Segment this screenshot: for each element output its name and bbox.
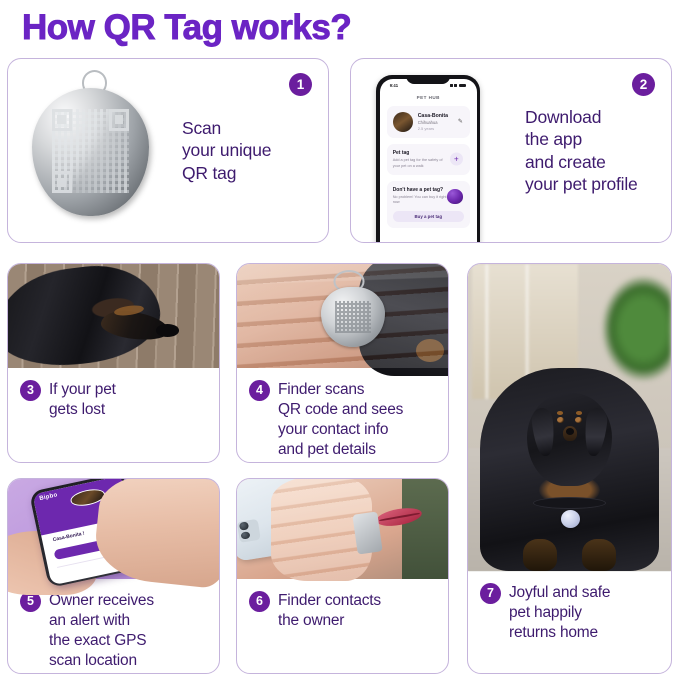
blue-pet-tag-icon: [561, 510, 581, 528]
step-2-badge: 2: [632, 73, 655, 96]
finder-scanning-photo: [237, 264, 448, 368]
status-icons: [450, 84, 466, 87]
status-time: 9:41: [390, 83, 398, 88]
buy-tag-card[interactable]: Don't have a pet tag? No problem! You ca…: [387, 181, 470, 229]
step-card-7[interactable]: 7 Joyful and safe pet happily returns ho…: [467, 263, 672, 674]
step-6-badge: 6: [249, 591, 270, 612]
no-tag-description: No problem! You can buy it right now: [393, 195, 449, 205]
step-card-4[interactable]: 4 Finder scans QR code and sees your con…: [236, 263, 449, 463]
pet-breed: Chihuahua: [418, 120, 448, 125]
qr-code-pattern: [52, 109, 130, 194]
step-card-6[interactable]: 6 Finder contacts the owner: [236, 478, 449, 674]
step-3-badge: 3: [20, 380, 41, 401]
qr-metal-tag-icon: [32, 88, 150, 216]
step-4-caption: Finder scans QR code and sees your conta…: [278, 380, 403, 461]
pet-hub-phone-illustration: 9:41 PET HUB Casa-Bonita: [351, 59, 519, 242]
pet-age: 2.5 years: [418, 126, 448, 131]
pet-profile-card[interactable]: Casa-Bonita Chihuahua 2.5 years ✎: [387, 106, 470, 138]
step-1-caption: Scan your unique QR tag: [182, 117, 271, 184]
pet-tag-card[interactable]: Pet tag Add a pet tag for the safety of …: [387, 144, 470, 175]
gps-alert-photo: Bipbo Casa-Bonita !: [8, 479, 219, 579]
battery-icon: [459, 84, 466, 87]
step-card-1[interactable]: Scan your unique QR tag 1: [7, 58, 329, 243]
step-card-3[interactable]: 3 If your pet gets lost: [7, 263, 220, 463]
wifi-icon: [454, 84, 457, 87]
step-2-caption: Download the app and create your pet pro…: [525, 106, 638, 196]
app-logo: Bipbo: [38, 493, 57, 503]
step-5-caption: Owner receives an alert with the exact G…: [49, 591, 154, 672]
edit-pencil-icon[interactable]: ✎: [458, 119, 463, 125]
pet-avatar: [393, 112, 413, 132]
qr-tag-illustration: [8, 59, 176, 242]
phone-call-photo: [237, 479, 448, 579]
page-title: How QR Tag works?: [0, 0, 679, 52]
pet-tag-description: Add a pet tag for the safety of your pet…: [393, 158, 449, 168]
phone-notch: [406, 75, 450, 84]
step-6-caption: Finder contacts the owner: [278, 591, 381, 631]
step-1-badge: 1: [289, 73, 312, 96]
step-7-badge: 7: [480, 583, 501, 604]
step-card-2[interactable]: 9:41 PET HUB Casa-Bonita: [350, 58, 672, 243]
sad-dog-photo: [8, 264, 219, 368]
pet-name: Casa-Bonita: [418, 113, 448, 119]
phone-screen: 9:41 PET HUB Casa-Bonita: [380, 79, 477, 242]
step-3-caption: If your pet gets lost: [49, 380, 116, 420]
step-card-5[interactable]: Bipbo Casa-Bonita ! 5 Owner receives an …: [7, 478, 220, 674]
steps-board: Scan your unique QR tag 1 9:41: [4, 56, 675, 674]
signal-icon: [450, 84, 453, 87]
step-4-badge: 4: [249, 380, 270, 401]
happy-dog-photo: [468, 264, 671, 571]
step-7-caption: Joyful and safe pet happily returns home: [509, 583, 610, 643]
phone-frame: 9:41 PET HUB Casa-Bonita: [376, 75, 480, 242]
add-pet-tag-button[interactable]: +: [450, 153, 463, 166]
buy-a-pet-tag-button[interactable]: Buy a pet tag: [393, 211, 464, 222]
app-screen-title: PET HUB: [387, 95, 470, 100]
purple-tag-icon: [447, 189, 463, 204]
phone-camera-icon: [237, 519, 261, 543]
